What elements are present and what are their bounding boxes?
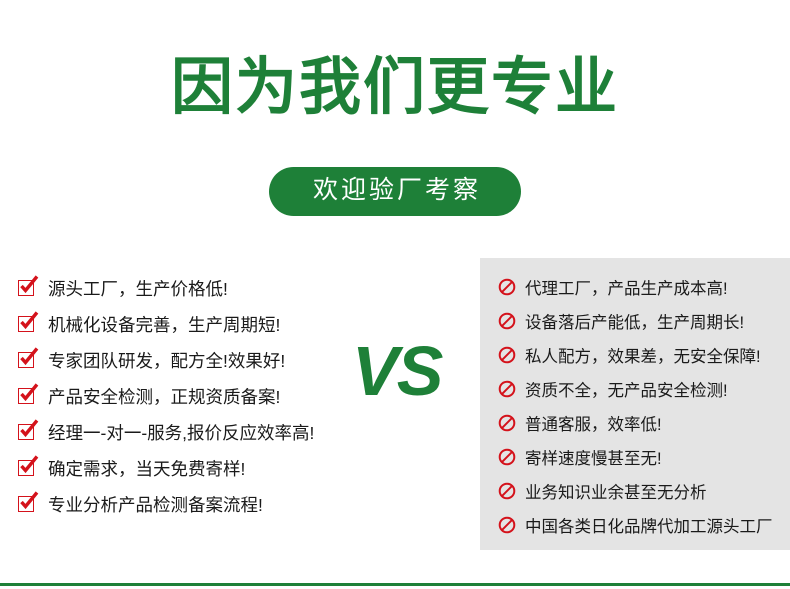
welcome-inspection-badge: 欢迎验厂考察 [269, 167, 521, 216]
list-item-label: 产品安全检测，正规资质备案! [48, 384, 280, 409]
list-item-label: 寄样速度慢甚至无! [525, 445, 662, 469]
check-square-icon [18, 350, 39, 369]
comparison-section: 源头工厂，生产价格低! 机械化设备完善，生产周期短! 专 [0, 258, 790, 550]
prohibition-icon [498, 312, 516, 330]
cons-column: 代理工厂，产品生产成本高! 设备落后产能低，生产周期长! [480, 258, 790, 550]
list-item-label: 确定需求，当天免费寄样! [48, 456, 245, 481]
list-item-label: 机械化设备完善，生产周期短! [48, 312, 280, 337]
list-item-label: 业务知识业余甚至无分析 [525, 479, 707, 503]
list-item: 代理工厂，产品生产成本高! [498, 270, 790, 304]
list-item-label: 经理一-对一-服务,报价反应效率高! [48, 420, 314, 445]
list-item: 专业分析产品检测备案流程! [18, 486, 360, 522]
list-item-label: 中国各类日化品牌代加工源头工厂 [525, 513, 773, 537]
list-item: 专家团队研发，配方全!效果好! [18, 342, 360, 378]
list-item-label: 普通客服，效率低! [525, 411, 662, 435]
list-item: 寄样速度慢甚至无! [498, 440, 790, 474]
badge-container: 欢迎验厂考察 [0, 167, 790, 216]
pros-column: 源头工厂，生产价格低! 机械化设备完善，生产周期短! 专 [0, 258, 360, 550]
list-item: 普通客服，效率低! [498, 406, 790, 440]
prohibition-icon [498, 516, 516, 534]
promo-banner: 因为我们更专业 欢迎验厂考察 源头工厂，生产价格低! [0, 0, 790, 589]
prohibition-icon [498, 448, 516, 466]
check-square-icon [18, 458, 39, 477]
check-square-icon [18, 278, 39, 297]
list-item: 产品安全检测，正规资质备案! [18, 378, 360, 414]
list-item-label: 代理工厂，产品生产成本高! [525, 275, 728, 299]
check-square-icon [18, 422, 39, 441]
list-item: 业务知识业余甚至无分析 [498, 474, 790, 508]
page-title: 因为我们更专业 [0, 54, 790, 122]
list-item: 中国各类日化品牌代加工源头工厂 [498, 508, 790, 542]
vs-label: VS [352, 336, 441, 406]
list-item: 机械化设备完善，生产周期短! [18, 306, 360, 342]
list-item-label: 私人配方，效果差，无安全保障! [525, 343, 761, 367]
list-item-label: 专业分析产品检测备案流程! [48, 492, 263, 517]
prohibition-icon [498, 278, 516, 296]
prohibition-icon [498, 414, 516, 432]
list-item: 源头工厂，生产价格低! [18, 270, 360, 306]
bottom-divider [0, 583, 790, 586]
check-square-icon [18, 494, 39, 513]
prohibition-icon [498, 482, 516, 500]
list-item-label: 设备落后产能低，生产周期长! [525, 309, 744, 333]
list-item: 经理一-对一-服务,报价反应效率高! [18, 414, 360, 450]
list-item-label: 源头工厂，生产价格低! [48, 276, 228, 301]
list-item-label: 专家团队研发，配方全!效果好! [48, 348, 285, 373]
list-item: 资质不全，无产品安全检测! [498, 372, 790, 406]
prohibition-icon [498, 346, 516, 364]
prohibition-icon [498, 380, 516, 398]
check-square-icon [18, 314, 39, 333]
list-item: 确定需求，当天免费寄样! [18, 450, 360, 486]
check-square-icon [18, 386, 39, 405]
list-item: 私人配方，效果差，无安全保障! [498, 338, 790, 372]
list-item: 设备落后产能低，生产周期长! [498, 304, 790, 338]
list-item-label: 资质不全，无产品安全检测! [525, 377, 728, 401]
